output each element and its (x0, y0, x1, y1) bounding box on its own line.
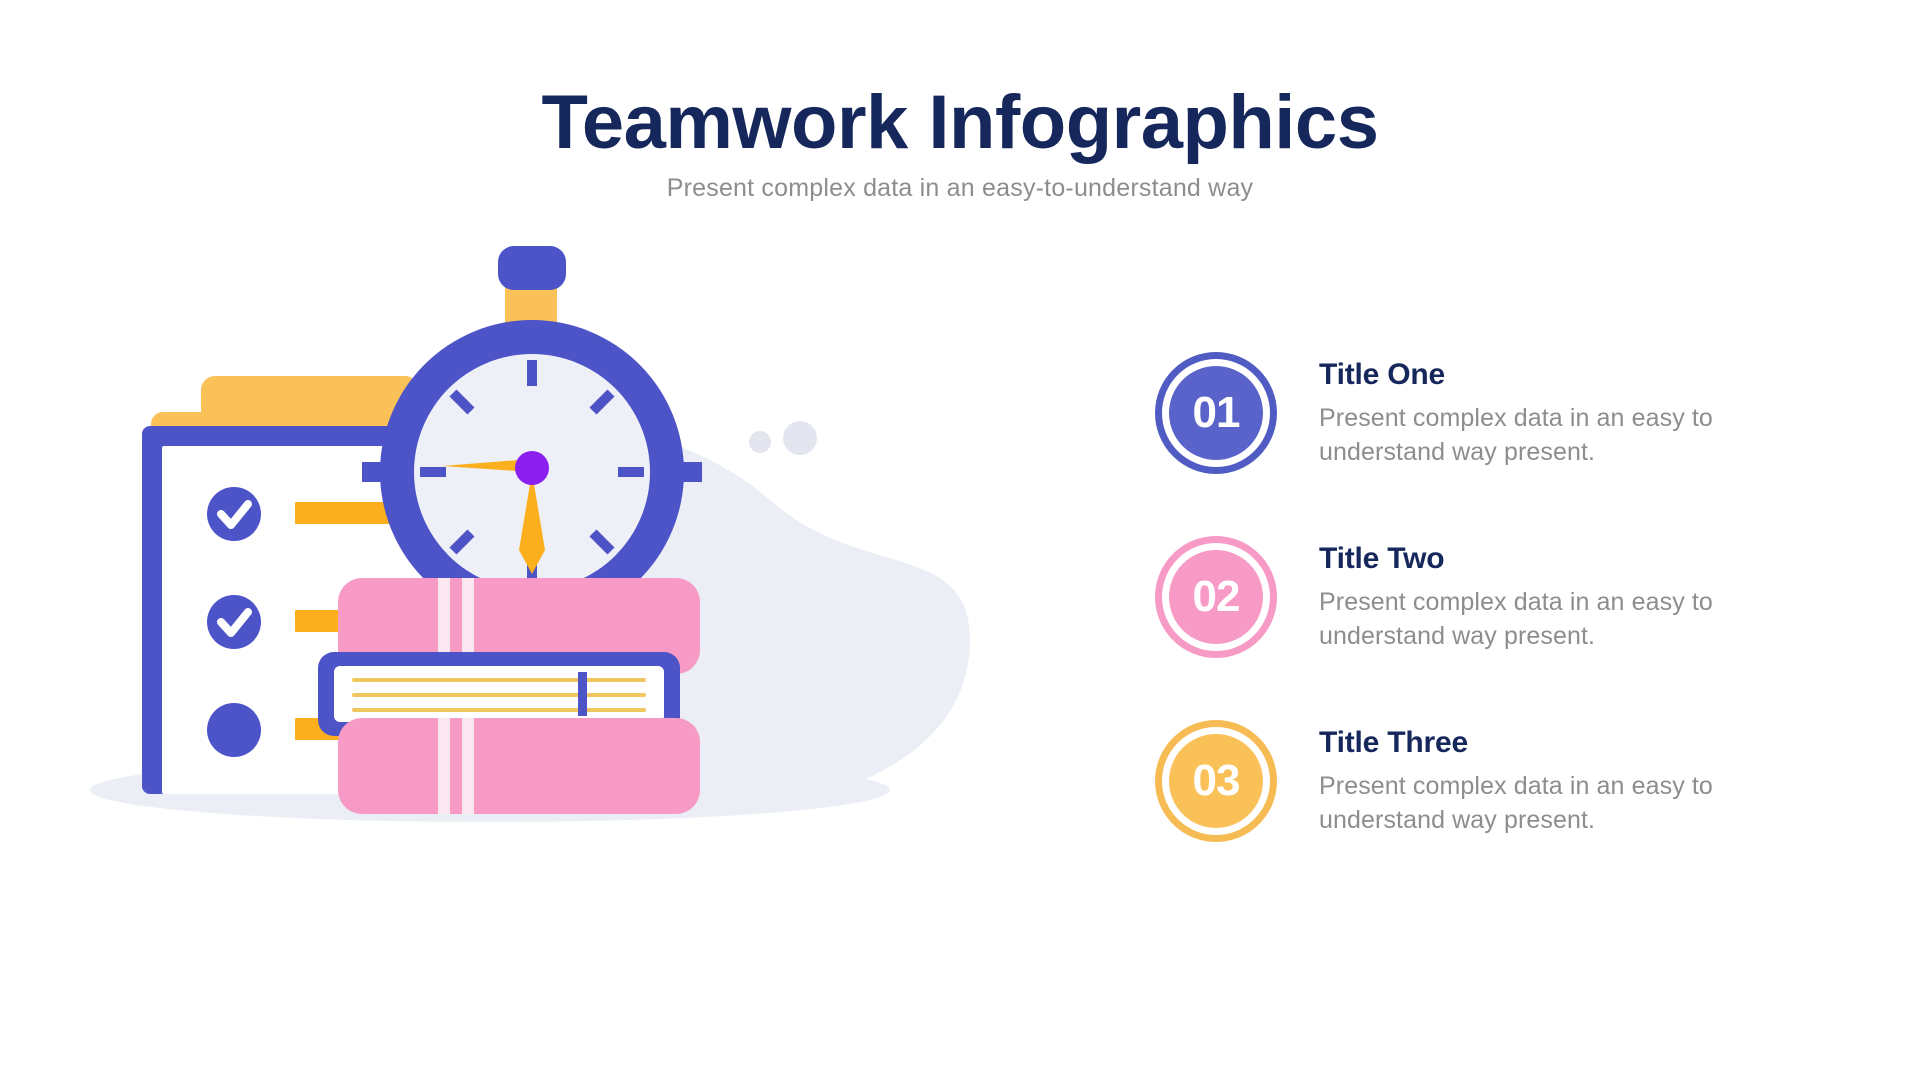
feature-item-03[interactable]: 03 Title Three Present complex data in a… (1155, 720, 1855, 842)
checkbox-checked-1 (207, 487, 261, 541)
feature-list: 01 Title One Present complex data in an … (1155, 352, 1855, 842)
page-title: Teamwork Infographics (0, 84, 1920, 162)
feature-item-01[interactable]: 01 Title One Present complex data in an … (1155, 352, 1855, 474)
badge-number-02: 02 (1193, 575, 1240, 619)
bubble-small (749, 431, 771, 453)
feature-text-03: Title Three Present complex data in an e… (1319, 720, 1789, 837)
feature-item-02[interactable]: 02 Title Two Present complex data in an … (1155, 536, 1855, 658)
feature-description-03: Present complex data in an easy to under… (1319, 770, 1789, 837)
feature-description-02: Present complex data in an easy to under… (1319, 586, 1789, 653)
page-subtitle: Present complex data in an easy-to-under… (0, 174, 1920, 203)
number-badge-03[interactable]: 03 (1155, 720, 1277, 842)
badge-number-03: 03 (1193, 759, 1240, 803)
book-pink-bottom (338, 718, 700, 814)
bubble-large (783, 421, 817, 455)
number-badge-02[interactable]: 02 (1155, 536, 1277, 658)
badge-number-01: 01 (1193, 391, 1240, 435)
feature-text-02: Title Two Present complex data in an eas… (1319, 536, 1789, 653)
feature-title-03: Title Three (1319, 726, 1789, 760)
checkbox-checked-2 (207, 595, 261, 649)
teamwork-illustration (70, 240, 1070, 1000)
feature-text-01: Title One Present complex data in an eas… (1319, 352, 1789, 469)
feature-title-02: Title Two (1319, 542, 1789, 576)
checkbox-empty-3 (207, 703, 261, 757)
number-badge-01[interactable]: 01 (1155, 352, 1277, 474)
feature-title-01: Title One (1319, 358, 1789, 392)
stopwatch-button (498, 246, 566, 290)
header: Teamwork Infographics Present complex da… (0, 84, 1920, 203)
feature-description-01: Present complex data in an easy to under… (1319, 402, 1789, 469)
infographic-slide: Teamwork Infographics Present complex da… (0, 0, 1920, 1080)
